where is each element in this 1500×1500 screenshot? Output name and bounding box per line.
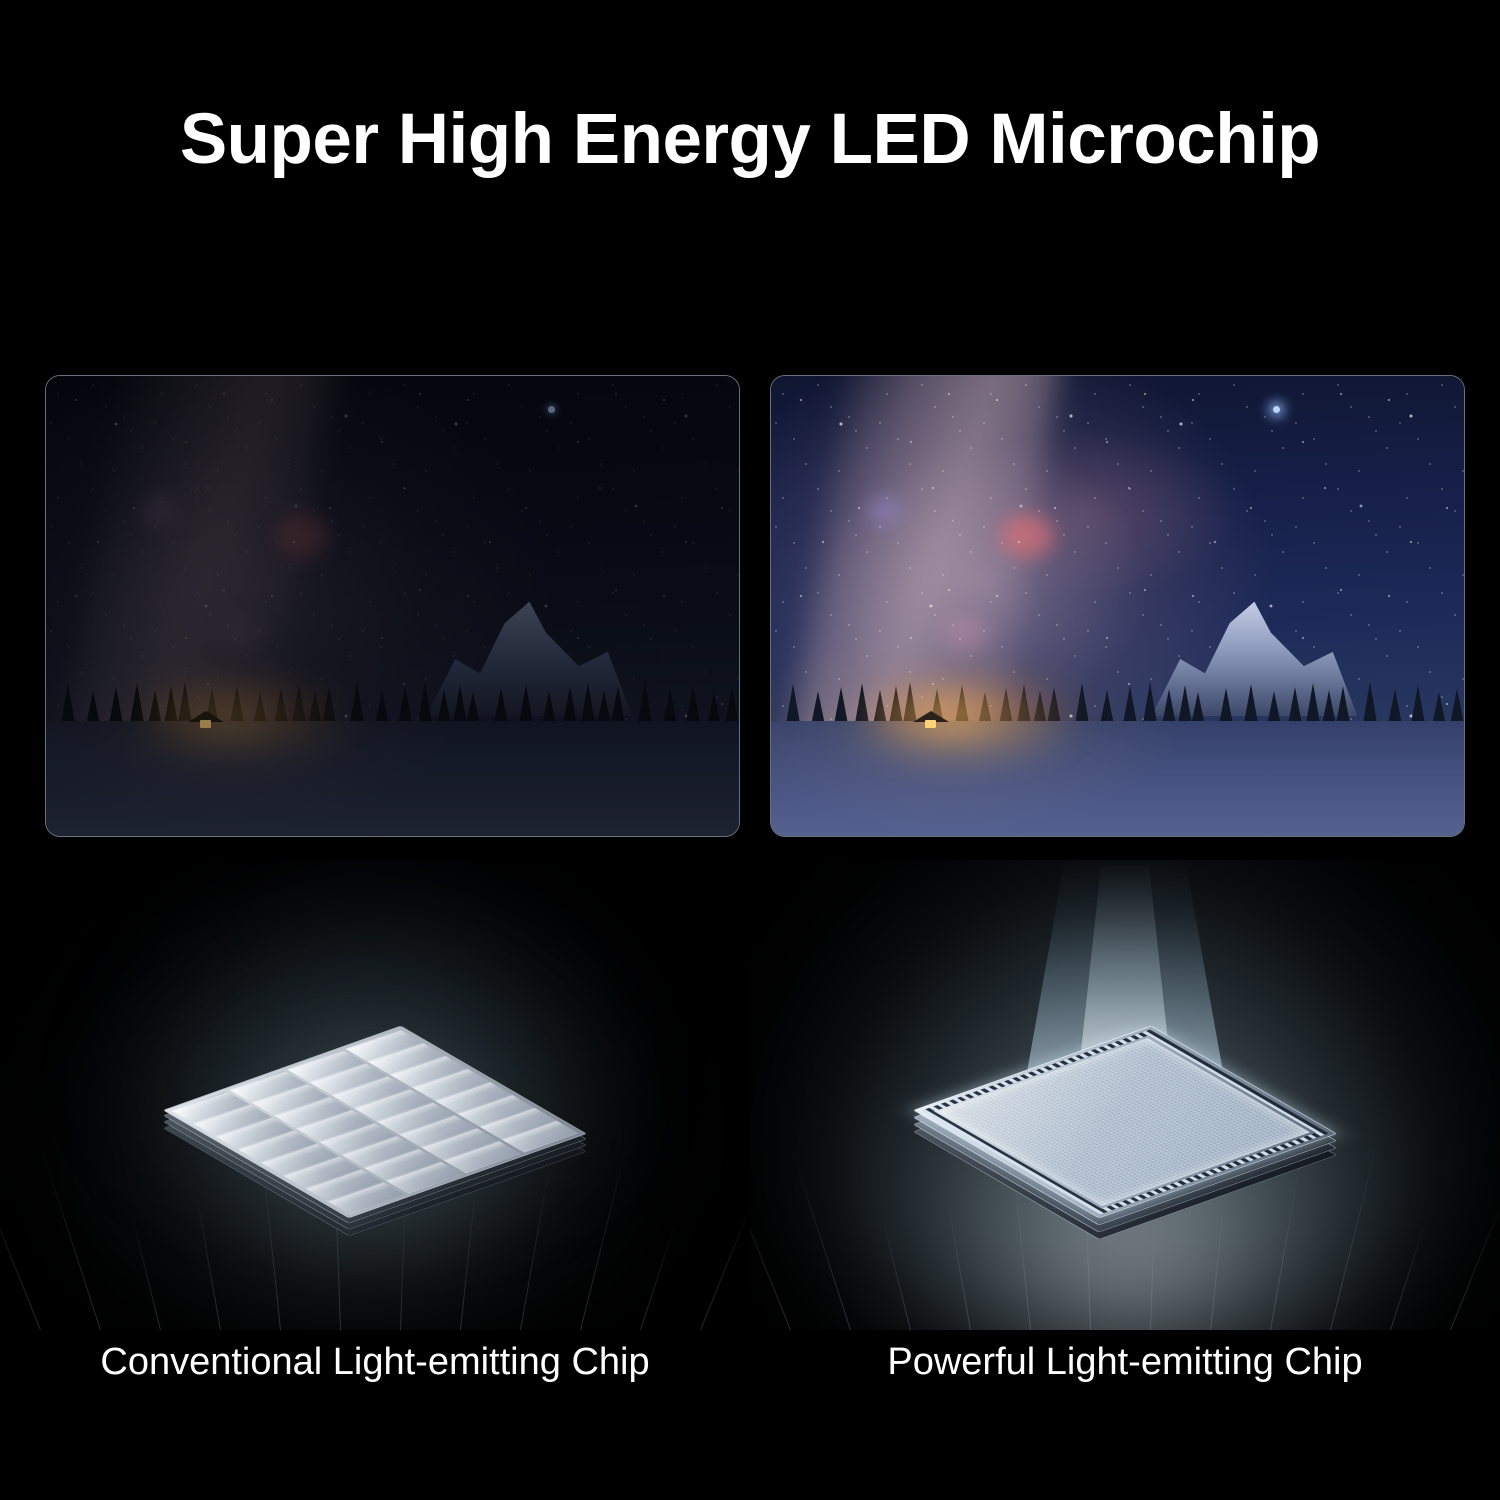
snowfield (46, 721, 739, 836)
cabin-icon (188, 711, 224, 728)
cabin-window (925, 720, 936, 728)
grid-line (700, 1194, 750, 1330)
grid-line (1450, 1194, 1500, 1330)
powerful-chip-model (915, 972, 1335, 1272)
dim-night-photo-panel (45, 375, 740, 837)
conventional-chip-caption: Conventional Light-emitting Chip (0, 1336, 750, 1388)
emitter-segment (173, 1092, 248, 1123)
grid-line (750, 1170, 791, 1330)
emitter-segment (391, 1056, 466, 1087)
page-title: Super High Energy LED Microchip (0, 98, 1500, 182)
conventional-chip-body (164, 1026, 585, 1217)
emitter-segment (231, 1071, 306, 1102)
snowfield (771, 721, 1464, 836)
chip-comparison-stage (0, 860, 1500, 1330)
conventional-emitter-array (164, 1026, 585, 1217)
snow-sheen (46, 721, 739, 836)
grid-line (131, 1213, 161, 1330)
cabin-icon (913, 711, 949, 728)
grid-line (640, 1216, 678, 1330)
powerful-chip-body (914, 1026, 1335, 1217)
powerful-chip-stage (750, 860, 1500, 1330)
powerful-emitter-frame (914, 1026, 1335, 1217)
grid-line (0, 1170, 41, 1330)
emitter-segment (289, 1051, 364, 1082)
conventional-chip-model (165, 972, 585, 1272)
grid-line (39, 1142, 101, 1330)
night-scene-bright (771, 376, 1464, 836)
grid-line (789, 1142, 851, 1330)
grid-line (1390, 1216, 1428, 1330)
cabin-light-glow (868, 672, 1078, 758)
emitter-segment (311, 1064, 386, 1095)
emitter-segment (458, 1095, 533, 1126)
grid-line (1330, 1138, 1379, 1330)
emitter-segment (253, 1084, 328, 1115)
bright-night-photo-panel (770, 375, 1465, 837)
night-scene-dim (46, 376, 739, 836)
cabin-light-glow (143, 672, 353, 758)
conventional-chip-stage (0, 860, 750, 1330)
emitter-segment (435, 1082, 510, 1113)
emitter-segment (346, 1030, 421, 1061)
emitter-segment (369, 1043, 444, 1074)
emitter-segment (413, 1069, 488, 1100)
photo-comparison (45, 375, 1455, 837)
grid-line (881, 1213, 911, 1330)
powerful-chip-caption: Powerful Light-emitting Chip (750, 1336, 1500, 1388)
cabin-window (200, 720, 211, 728)
chip-captions: Conventional Light-emitting Chip Powerfu… (0, 1336, 1500, 1396)
emitter-segment (333, 1077, 408, 1108)
emitter-segment (355, 1090, 430, 1121)
grid-line (580, 1138, 629, 1330)
snow-sheen (771, 721, 1464, 836)
